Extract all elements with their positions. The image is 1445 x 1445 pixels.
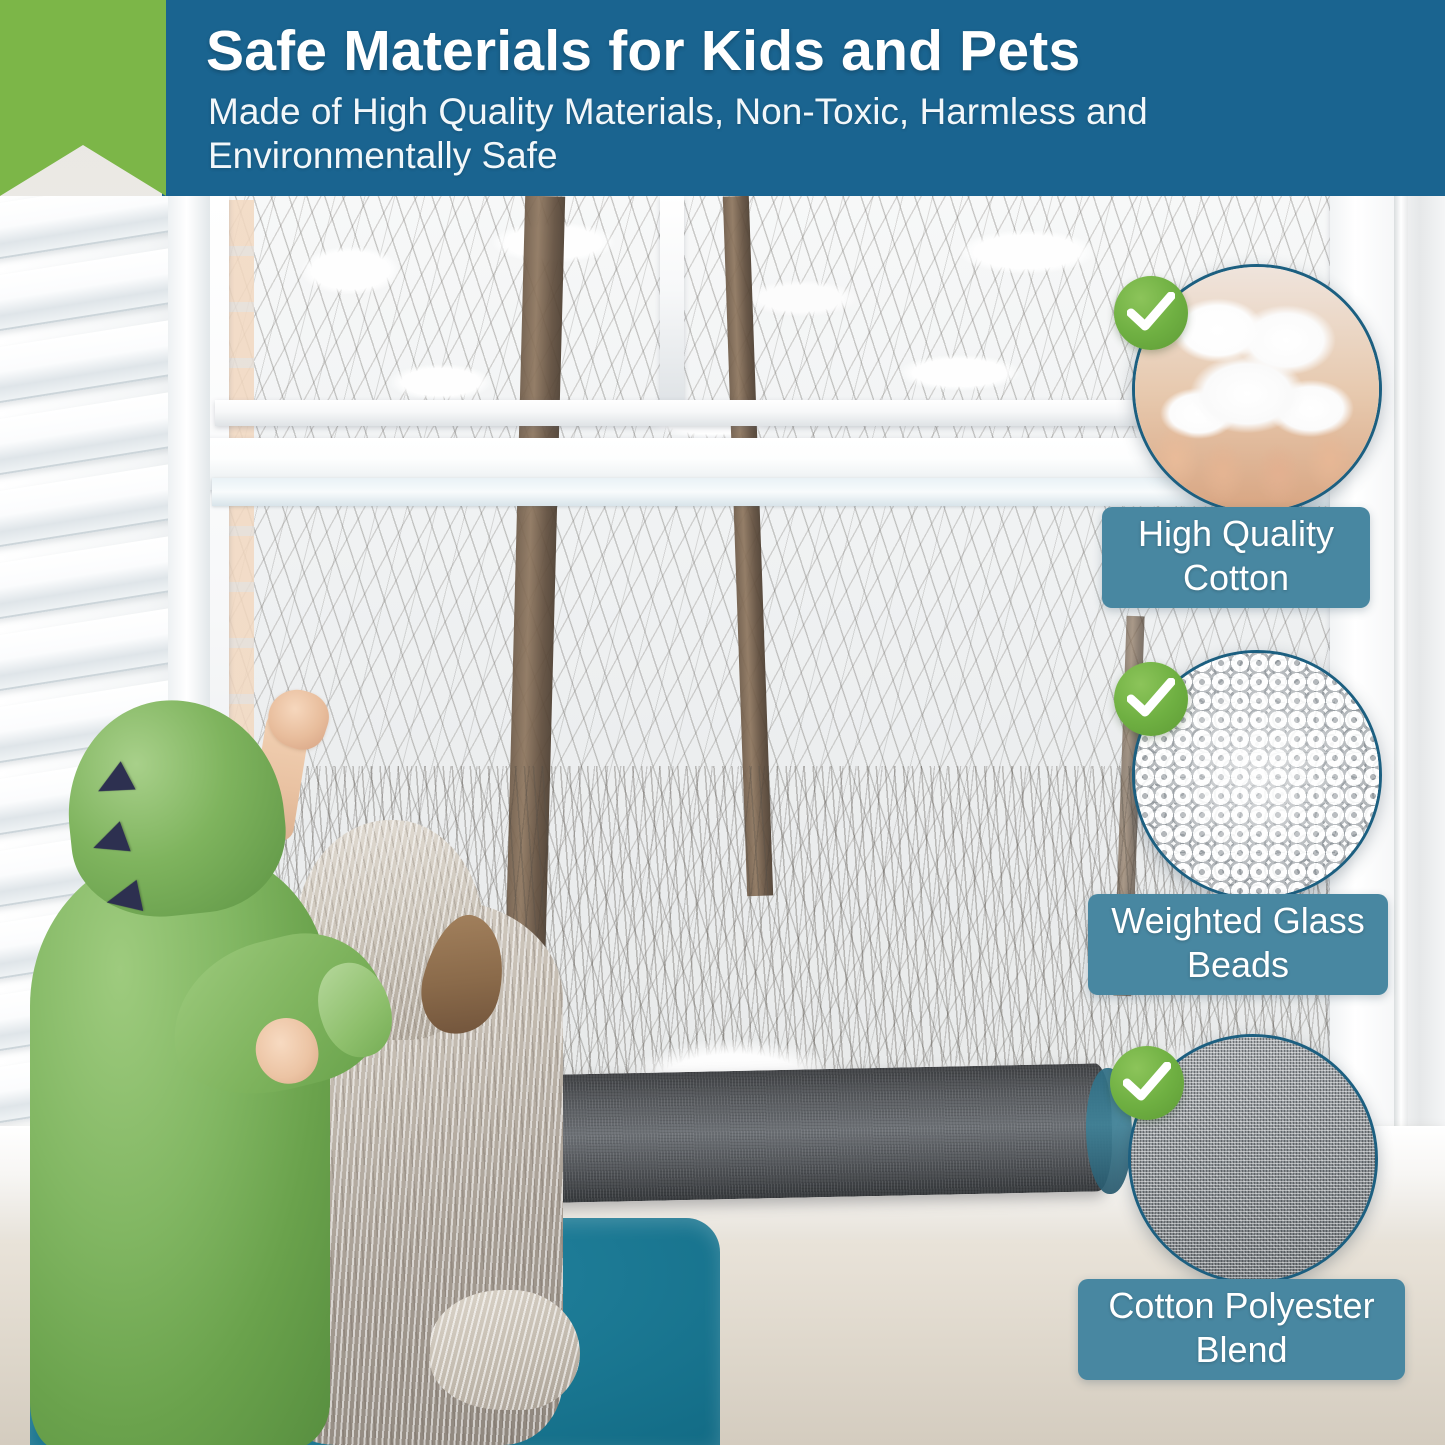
dog-fur xyxy=(430,1290,580,1410)
dinosaur-spike-icon xyxy=(103,880,143,918)
check-icon xyxy=(1127,292,1175,334)
dinosaur-spike-icon xyxy=(88,821,131,863)
check-badge xyxy=(1114,662,1188,736)
check-badge xyxy=(1114,276,1188,350)
window-mullion xyxy=(660,196,684,404)
header-banner: Safe Materials for Kids and Pets Made of… xyxy=(162,0,1445,196)
feature-label-glass-beads: Weighted Glass Beads xyxy=(1088,894,1388,995)
child-in-dinosaur-hoodie xyxy=(20,700,380,1445)
page-title: Safe Materials for Kids and Pets xyxy=(206,18,1080,84)
dinosaur-spike-icon xyxy=(91,761,136,805)
feature-label-polyester: Cotton Polyester Blend xyxy=(1078,1279,1405,1380)
check-badge xyxy=(1110,1046,1184,1120)
infographic-canvas: Safe Materials for Kids and Pets Made of… xyxy=(0,0,1445,1445)
check-icon xyxy=(1123,1062,1171,1104)
feature-label-cotton: High Quality Cotton xyxy=(1102,507,1370,608)
dinosaur-hood xyxy=(57,689,293,925)
check-icon xyxy=(1127,678,1175,720)
page-subtitle: Made of High Quality Materials, Non-Toxi… xyxy=(208,90,1388,178)
